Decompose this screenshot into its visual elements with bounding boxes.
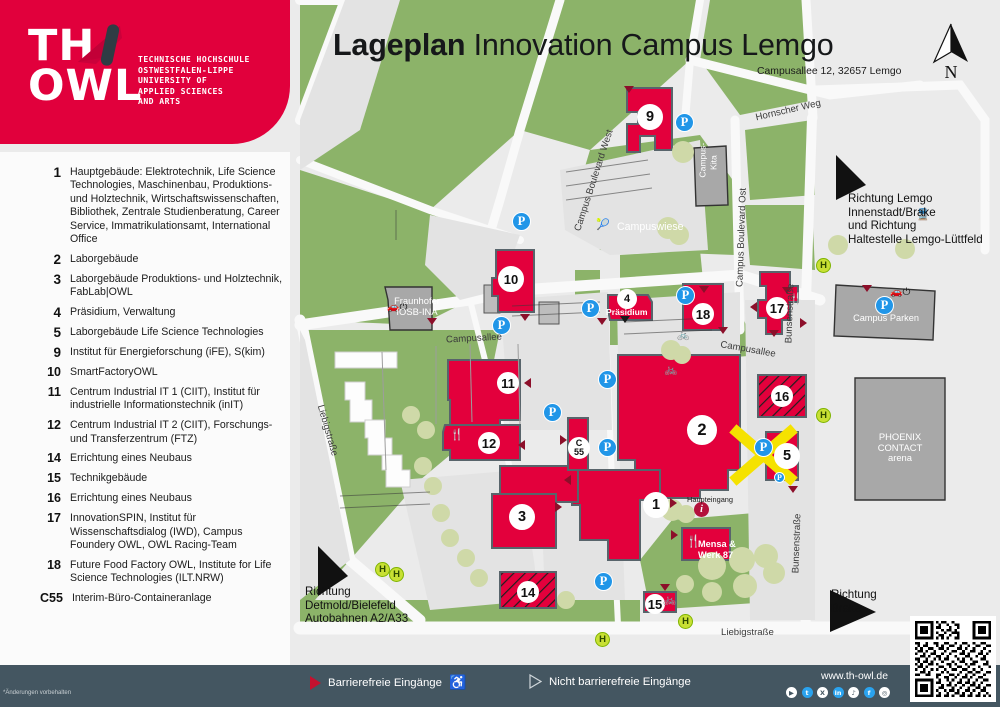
- marker-label: 15: [648, 597, 662, 612]
- building-marker-1[interactable]: 1: [643, 492, 669, 518]
- not-accessible-entrances-label: Nicht barrierefreie Eingänge: [549, 676, 691, 688]
- legend-number: 11: [40, 386, 70, 413]
- entrance-marker-icon: [520, 314, 530, 321]
- legend-text: Future Food Factory OWL, Institute for L…: [70, 559, 282, 586]
- legend-number: 10: [40, 366, 70, 379]
- parking-icon[interactable]: P: [581, 299, 600, 318]
- twitter-icon[interactable]: t: [802, 687, 813, 698]
- building-marker-15[interactable]: 15: [645, 594, 665, 614]
- building-marker-18[interactable]: 18: [692, 303, 714, 325]
- parking-icon[interactable]: P: [512, 212, 531, 231]
- entrance-marker-icon: [800, 318, 807, 328]
- entrance-marker-icon: [620, 316, 630, 323]
- legend-item[interactable]: 18Future Food Factory OWL, Institute for…: [40, 559, 282, 586]
- marker-label: 17: [770, 301, 784, 316]
- qr-code-icon[interactable]: [910, 616, 996, 702]
- marker-label: 12: [482, 436, 496, 451]
- entrance-marker-icon: [524, 378, 531, 388]
- legend-number: 4: [40, 306, 70, 319]
- entrance-marker-icon: [788, 486, 798, 493]
- marker-label: 2: [697, 421, 706, 440]
- th-owl-logo-block: THOWL TECHNISCHE HOCHSCHULEOSTWESTFALEN-…: [0, 0, 290, 144]
- building-marker-3[interactable]: 3: [509, 504, 535, 530]
- accessible-entrances-label: Barrierefreie Eingänge: [328, 677, 442, 689]
- building-marker-4[interactable]: 4: [617, 289, 637, 309]
- legend-item[interactable]: 14Errichtung eines Neubaus: [40, 452, 282, 465]
- entrance-marker-icon: [699, 286, 709, 293]
- social-links[interactable]: ▶ t X in ♪ f ◎: [786, 687, 890, 698]
- xing-icon[interactable]: X: [817, 687, 828, 698]
- direction-brake: RichtungBrake: [831, 588, 877, 615]
- label-campus-parken: Campus Parken: [840, 313, 932, 324]
- legend-text: Centrum Industrial IT 1 (CIIT), Institut…: [70, 386, 282, 413]
- th-owl-triangle-icon: [74, 22, 126, 70]
- legend-text: Hauptgebäude: Elektrotechnik, Life Scien…: [70, 166, 282, 246]
- legend-number: 2: [40, 253, 70, 266]
- legend-number: 14: [40, 452, 70, 465]
- bus-stop-icon[interactable]: H: [678, 614, 693, 629]
- building-marker-11[interactable]: 11: [497, 372, 519, 394]
- label-mensa-werk87: Mensa &Werk 87: [698, 539, 736, 560]
- entrance-marker-icon: [427, 318, 437, 325]
- legend-item[interactable]: 16Errichtung eines Neubaus: [40, 492, 282, 505]
- page-title-rest: Innovation Campus Lemgo: [474, 28, 834, 62]
- legend-item[interactable]: 1Hauptgebäude: Elektrotechnik, Life Scie…: [40, 166, 282, 246]
- page-title-bold: Lageplan: [333, 28, 465, 62]
- direction-detmold: RichtungDetmold/BielefeldAutobahnen A2/A…: [305, 585, 408, 626]
- legend-number: 9: [40, 346, 70, 359]
- instagram-icon[interactable]: ◎: [879, 687, 890, 698]
- entrance-marker-icon: [555, 502, 562, 512]
- legend-text: Laborgebäude Produktions- und Holztechni…: [70, 273, 282, 300]
- bus-stop-icon[interactable]: H: [389, 567, 404, 582]
- legend-text: InnovationSPIN, Institut für Wissenschaf…: [70, 512, 282, 552]
- bicycle-icon: 🚲: [663, 593, 677, 606]
- bicycle-icon: 🚲: [677, 330, 689, 341]
- entrance-marker-icon: [769, 330, 779, 337]
- entrance-marker-icon: [624, 86, 634, 93]
- legend-accessible-entrances: Barrierefreie Eingänge ♿: [310, 674, 466, 691]
- legend-text: Laborgebäude Life Science Technologies: [70, 326, 282, 339]
- label-praesidium: Präsidium: [606, 307, 648, 317]
- footer-note: *Änderungen vorbehalten: [3, 690, 71, 696]
- label-haupteingang: Haupteingang: [687, 495, 733, 504]
- marker-label: 14: [521, 585, 535, 600]
- marker-label-55: 55: [574, 448, 584, 457]
- legend-panel: 1Hauptgebäude: Elektrotechnik, Life Scie…: [0, 152, 290, 665]
- marker-label: 3: [518, 509, 526, 525]
- legend-item[interactable]: 15Technikgebäude: [40, 472, 282, 485]
- building-marker-12[interactable]: 12: [478, 432, 500, 454]
- label-phoenix-contact-arena: PHOENIXCONTACTarena: [855, 432, 945, 464]
- parking-icon[interactable]: P: [774, 472, 785, 483]
- marker-label: 11: [501, 376, 515, 391]
- legend-item[interactable]: 5Laborgebäude Life Science Technologies: [40, 326, 282, 339]
- entrance-marker-icon: [560, 435, 567, 445]
- legend-number: 12: [40, 419, 70, 446]
- parking-icon[interactable]: P: [543, 403, 562, 422]
- legend-item[interactable]: 10SmartFactoryOWL: [40, 366, 282, 379]
- entrance-marker-icon: [862, 285, 872, 292]
- legend-item[interactable]: 4Präsidium, Verwaltung: [40, 306, 282, 319]
- entrance-marker-icon: [718, 327, 728, 334]
- street-liebigstrasse-south: Liebigstraße: [721, 627, 774, 638]
- legend-text: Laborgebäude: [70, 253, 282, 266]
- parking-icon[interactable]: P: [594, 572, 613, 591]
- building-marker-14[interactable]: 14: [517, 581, 539, 603]
- building-marker-16[interactable]: 16: [771, 385, 793, 407]
- legend-text: Centrum Industrial IT 2 (CIIT), Forschun…: [70, 419, 282, 446]
- legend-text: Errichtung eines Neubaus: [70, 492, 282, 505]
- campus-map-page: 9 10 4 18 17 11 12 2 16 5 1 3 14 15 C55 …: [0, 0, 1000, 707]
- website-url[interactable]: www.th-owl.de: [821, 671, 888, 682]
- linkedin-icon[interactable]: in: [833, 687, 844, 698]
- parking-icon[interactable]: P: [598, 438, 617, 457]
- entrance-marker-icon: [518, 440, 525, 450]
- legend-text: Präsidium, Verwaltung: [70, 306, 282, 319]
- tiktok-icon[interactable]: ♪: [848, 687, 859, 698]
- street-bunsenstrasse-north: Bunsenstraße: [783, 283, 796, 343]
- info-icon[interactable]: i: [694, 502, 709, 517]
- legend-item[interactable]: 3Laborgebäude Produktions- und Holztechn…: [40, 273, 282, 300]
- page-title: Lageplan Innovation Campus Lemgo: [333, 28, 834, 63]
- street-bunsenstrasse-south: Bunsenstraße: [790, 513, 803, 573]
- entrance-marker-icon: [671, 530, 678, 540]
- legend-number: 3: [40, 273, 70, 300]
- parking-icon[interactable]: P: [598, 370, 617, 389]
- legend-number: C55: [40, 592, 72, 605]
- legend-text: SmartFactoryOWL: [70, 366, 282, 379]
- marker-label: 1: [652, 497, 660, 513]
- marker-label: 18: [696, 307, 710, 322]
- marker-label: 16: [775, 389, 789, 404]
- legend-item[interactable]: 2Laborgebäude: [40, 253, 282, 266]
- entrance-marker-icon: [670, 498, 677, 508]
- direction-lemgo: Richtung LemgoInnenstadt/Brakeund Richtu…: [848, 192, 983, 246]
- bus-stop-icon[interactable]: H: [595, 632, 610, 647]
- legend-number: 5: [40, 326, 70, 339]
- legend-text: Interim-Büro-Containeranlage: [72, 592, 282, 605]
- legend-text: Errichtung eines Neubaus: [70, 452, 282, 465]
- compass-label: N: [928, 62, 974, 83]
- bus-stop-icon[interactable]: H: [816, 408, 831, 423]
- building-marker-10[interactable]: 10: [498, 266, 524, 292]
- building-marker-9[interactable]: 9: [637, 104, 663, 130]
- youtube-icon[interactable]: ▶: [786, 687, 797, 698]
- entrance-marker-icon: [750, 302, 757, 312]
- building-marker-5[interactable]: 5: [774, 443, 800, 469]
- marker-label: 5: [783, 448, 791, 464]
- parking-icon[interactable]: P: [676, 286, 695, 305]
- marker-label: 4: [624, 293, 630, 305]
- not-accessible-entrance-marker-icon: [529, 674, 542, 689]
- legend-item[interactable]: 12Centrum Industrial IT 2 (CIIT), Forsch…: [40, 419, 282, 446]
- car-charging-icon: 🚗⏻: [890, 287, 910, 298]
- label-fraunhofer: FraunhoferIOSB-INA: [387, 296, 447, 317]
- legend-not-accessible-entrances: Nicht barrierefreie Eingänge: [529, 674, 691, 689]
- legend-item[interactable]: C55Interim-Büro-Containeranlage: [40, 592, 282, 605]
- tennis-icon: 🎾: [596, 218, 610, 231]
- wheelchair-icon: ♿: [449, 674, 466, 691]
- north-arrow-icon: N: [928, 22, 974, 88]
- building-marker-2[interactable]: 2: [687, 415, 717, 445]
- building-marker-c55[interactable]: C55: [568, 437, 590, 459]
- entrance-marker-icon: [660, 584, 670, 591]
- legend-number: 1: [40, 166, 70, 246]
- label-campus-kita: Campus-Kita: [697, 148, 718, 178]
- legend-number: 16: [40, 492, 70, 505]
- footer-bar: Barrierefreie Eingänge ♿ Nicht barrieref…: [0, 665, 1000, 707]
- restaurant-icon: 🍴: [450, 428, 464, 441]
- legend-text: Institut für Energieforschung (iFE), S(k…: [70, 346, 282, 359]
- marker-label: 10: [504, 272, 518, 287]
- legend-number: 17: [40, 512, 70, 552]
- bus-stop-icon[interactable]: H: [816, 258, 831, 273]
- label-campuswiese: Campuswiese: [617, 221, 684, 233]
- legend-item[interactable]: 17InnovationSPIN, Institut für Wissensch…: [40, 512, 282, 552]
- marker-label: 9: [646, 109, 654, 125]
- page-subtitle: Campusallee 12, 32657 Lemgo: [757, 66, 901, 77]
- legend-number: 15: [40, 472, 70, 485]
- bus-stop-icon[interactable]: H: [375, 562, 390, 577]
- entrance-marker-icon: [564, 475, 571, 485]
- legend-item[interactable]: 9Institut für Energieforschung (iFE), S(…: [40, 346, 282, 359]
- legend-number: 18: [40, 559, 70, 586]
- accessible-entrance-marker-icon: [310, 676, 321, 690]
- parking-icon[interactable]: P: [675, 113, 694, 132]
- logo-subtitle: TECHNISCHE HOCHSCHULEOSTWESTFALEN-LIPPEU…: [138, 54, 250, 107]
- legend-text: Technikgebäude: [70, 472, 282, 485]
- entrance-marker-icon: [597, 318, 607, 325]
- bicycle-icon: 🚲: [664, 363, 678, 376]
- legend-item[interactable]: 11Centrum Industrial IT 1 (CIIT), Instit…: [40, 386, 282, 413]
- parking-icon[interactable]: P: [754, 438, 773, 457]
- facebook-icon[interactable]: f: [864, 687, 875, 698]
